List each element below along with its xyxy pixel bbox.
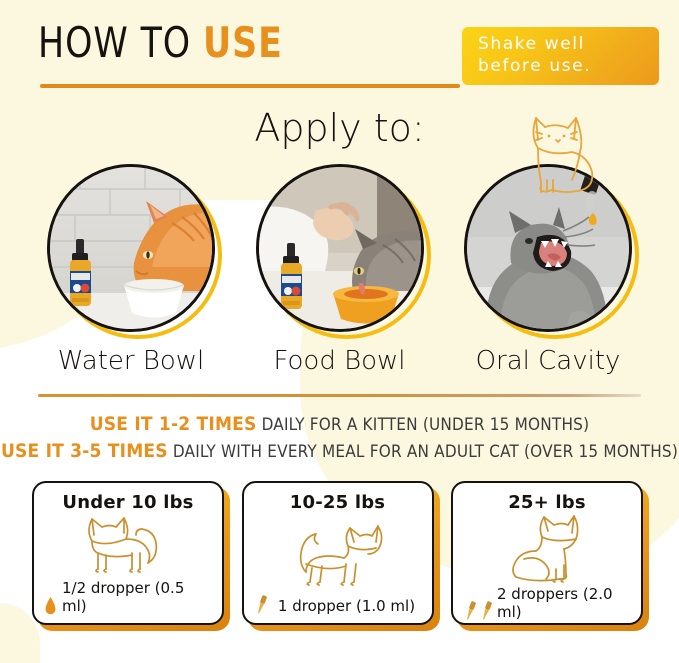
card-dose-row: 2 droppers (2.0 ml)	[453, 585, 641, 629]
apply-to-circles: Water Bowl	[0, 164, 679, 376]
weight-card-10-25: 10-25 lbs	[242, 481, 438, 629]
dosage-line-kitten-strong: USE IT 1-2 TIMES	[90, 413, 257, 435]
card-body: Under 10 lbs	[32, 481, 224, 625]
apply-to-heading: Apply to:	[0, 106, 679, 150]
card-dose-row: 1 dropper (1.0 ml)	[244, 597, 432, 623]
weight-card-25-plus: 25+ lbs	[451, 481, 647, 629]
dropper-icon	[254, 594, 269, 616]
badge-line-2: before use.	[478, 56, 659, 78]
apply-item-water-bowl: Water Bowl	[38, 164, 224, 376]
dosage-line-adult-strong: USE IT 3-5 TIMES	[1, 440, 168, 462]
shake-well-badge: Shake well before use.	[462, 27, 659, 85]
dosage-instructions: USE IT 1-2 TIMES DAILY FOR A KITTEN (UND…	[0, 411, 679, 465]
dropper-icon	[479, 600, 494, 622]
oral-cavity-illustration	[467, 167, 629, 329]
dosage-line-adult-rest: DAILY WITH EVERY MEAL FOR AN ADULT CAT (…	[168, 442, 678, 462]
page-title-accent: USE	[203, 18, 283, 67]
card-dose-text: 1/2 dropper (0.5 ml)	[62, 579, 212, 615]
standing-cat-outline-icon	[84, 513, 172, 579]
card-art	[244, 513, 432, 597]
card-title: 25+ lbs	[508, 492, 586, 513]
half-drop-icon	[44, 596, 57, 616]
section-divider	[38, 394, 641, 397]
card-dose-text: 1 dropper (1.0 ml)	[278, 597, 415, 615]
card-body: 10-25 lbs	[242, 481, 434, 625]
how-to-use-infographic: HOW TO USE Shake well before use. Apply …	[0, 0, 679, 663]
food-bowl-photo	[256, 164, 424, 332]
apply-item-food-bowl: Food Bowl	[247, 164, 433, 376]
dropper-icon	[463, 600, 478, 622]
card-title: 10-25 lbs	[290, 492, 385, 513]
apply-item-label: Food Bowl	[247, 346, 433, 376]
walking-cat-outline-icon	[292, 520, 384, 590]
card-body: 25+ lbs	[451, 481, 643, 625]
card-art	[34, 513, 222, 579]
card-dose-text: 2 droppers (2.0 ml)	[497, 585, 631, 621]
apply-item-label: Water Bowl	[38, 346, 224, 376]
weight-card-under-10: Under 10 lbs	[32, 481, 228, 629]
header: HOW TO USE Shake well before use.	[0, 0, 679, 96]
dosage-line-kitten-rest: DAILY FOR A KITTEN (UNDER 15 MONTHS)	[257, 415, 590, 435]
water-bowl-photo	[47, 164, 215, 332]
apply-item-label: Oral Cavity	[455, 346, 641, 376]
photo-wrap	[47, 164, 215, 332]
weight-dosage-cards: Under 10 lbs	[0, 481, 679, 629]
photo-wrap	[256, 164, 424, 332]
header-underline	[40, 84, 460, 88]
dosage-line-adult: USE IT 3-5 TIMES DAILY WITH EVERY MEAL F…	[0, 438, 679, 465]
photo-wrap	[464, 164, 632, 332]
apply-item-oral-cavity: Oral Cavity	[455, 164, 641, 376]
sitting-cat-outline-icon	[504, 513, 590, 585]
dosage-line-kitten: USE IT 1-2 TIMES DAILY FOR A KITTEN (UND…	[0, 411, 679, 438]
card-dose-row: 1/2 dropper (0.5 ml)	[34, 579, 222, 623]
card-art	[453, 513, 641, 585]
page-title: HOW TO USE	[38, 22, 283, 64]
page-title-plain: HOW TO	[38, 18, 203, 67]
food-bowl-illustration	[259, 167, 421, 329]
dropper-icon-pair	[463, 600, 494, 622]
card-title: Under 10 lbs	[62, 492, 193, 513]
water-bowl-illustration	[50, 167, 212, 329]
oral-cavity-photo	[464, 164, 632, 332]
badge-line-1: Shake well	[478, 34, 659, 56]
